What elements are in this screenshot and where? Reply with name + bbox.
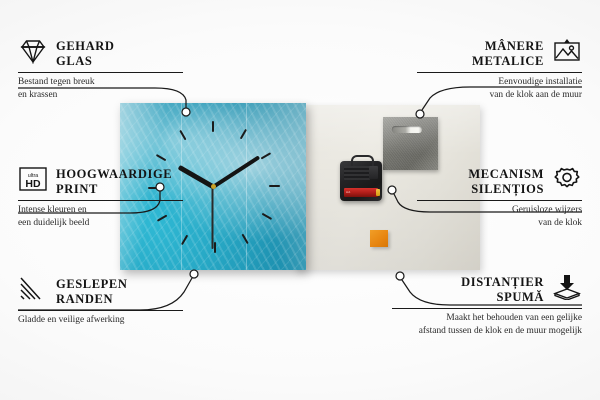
callout-desc: Bestand tegen breuken krassen <box>18 76 183 101</box>
clock-hub <box>211 184 216 189</box>
glass-seam-right <box>246 103 247 270</box>
diamond-icon <box>18 38 48 69</box>
foam-spacer <box>370 230 388 247</box>
battery: AA <box>344 188 378 197</box>
spacer-press-icon <box>552 274 582 305</box>
metal-hanger-plate <box>383 117 438 170</box>
callout-distantier-spuma[interactable]: DISTANȚIERSPUMĂ Maakt het behouden van e… <box>392 274 582 337</box>
callout-manere-metalice[interactable]: MÂNEREMETALICE Eenvoudige installatievan… <box>417 38 582 101</box>
svg-text:HD: HD <box>25 178 41 190</box>
callout-desc: Eenvoudige installatievan de klok aan de… <box>417 76 582 101</box>
product-infographic: AA <box>0 0 600 400</box>
hanger-slot <box>392 126 422 133</box>
callout-title: HOOGWAARDIGEPRINT <box>56 167 172 197</box>
callout-title: MÂNEREMETALICE <box>472 39 544 69</box>
callout-desc: Maakt het behouden van een gelijkeafstan… <box>392 312 582 337</box>
mechanism-hanger-tab <box>351 155 374 166</box>
callout-rule <box>18 200 183 201</box>
clock-mechanism: AA <box>340 161 382 201</box>
gear-icon <box>552 166 582 197</box>
minute-hand <box>212 155 260 188</box>
callout-title: GEHARDGLAS <box>56 39 114 69</box>
mechanism-block <box>369 166 378 179</box>
battery-label: AA <box>346 190 350 194</box>
callout-title: GESLEPENRANDEN <box>56 277 128 307</box>
picture-frame-icon <box>552 38 582 69</box>
second-hand <box>212 187 214 249</box>
mechanism-grill <box>344 166 370 180</box>
callout-rule <box>417 200 582 201</box>
callout-title: DISTANȚIERSPUMĂ <box>461 275 544 305</box>
callout-rule <box>417 72 582 73</box>
callout-desc: Intense kleuren eneen duidelijk beeld <box>18 204 183 229</box>
callout-mecanism-silentios[interactable]: MECANISMSILENȚIOS Geruisloze wijzersvan … <box>417 166 582 229</box>
beveled-edges-icon <box>18 276 48 307</box>
callout-gehard-glas[interactable]: GEHARDGLAS Bestand tegen breuken krassen <box>18 38 183 101</box>
callout-hoogwaardige-print[interactable]: ultra HD HOOGWAARDIGEPRINT Intense kleur… <box>18 166 183 229</box>
callout-geslepen-randen[interactable]: GESLEPENRANDEN Gladde en veilige afwerki… <box>18 276 183 327</box>
callout-title: MECANISMSILENȚIOS <box>468 167 544 197</box>
callout-rule <box>392 308 582 309</box>
callout-rule <box>18 310 183 311</box>
ultra-hd-icon: ultra HD <box>18 166 48 197</box>
callout-desc: Geruisloze wijzersvan de klok <box>417 204 582 229</box>
callout-desc: Gladde en veilige afwerking <box>18 314 183 326</box>
callout-rule <box>18 72 183 73</box>
